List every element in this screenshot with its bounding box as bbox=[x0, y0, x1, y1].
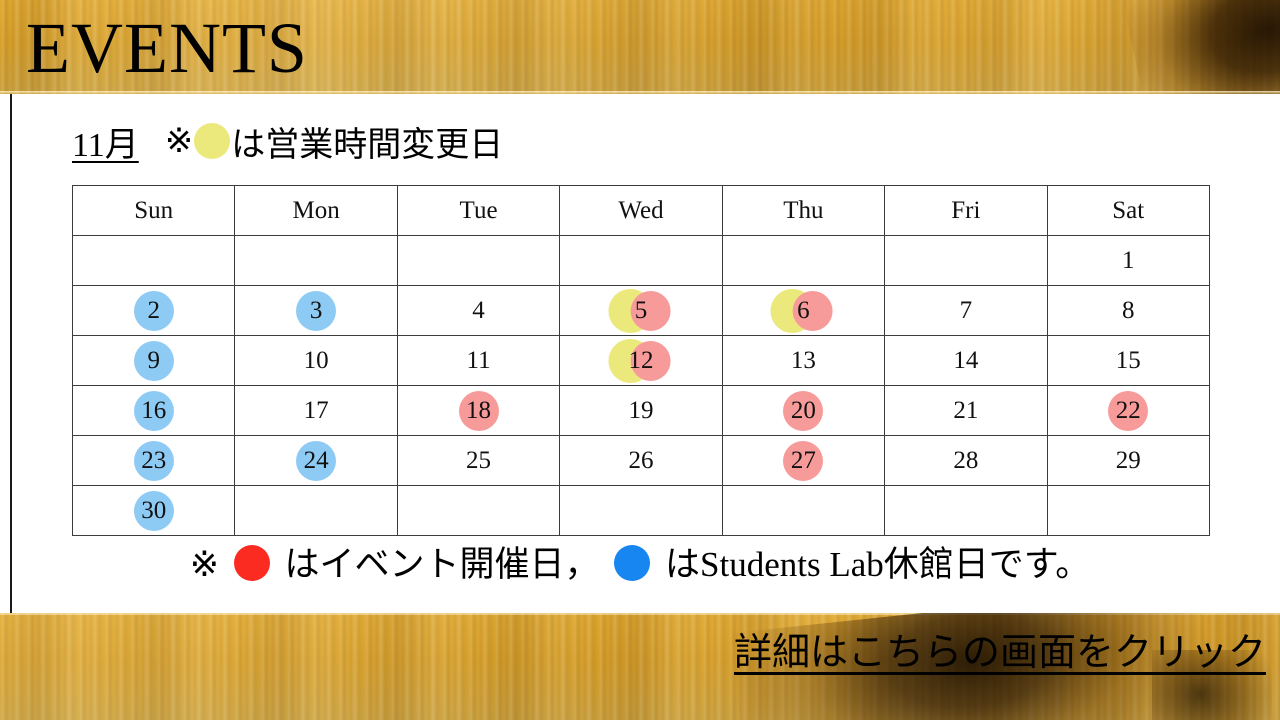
day-cell-content: 22 bbox=[1048, 386, 1209, 435]
calendar-day-cell[interactable]: 12 bbox=[560, 336, 722, 386]
day-cell-content: 16 bbox=[73, 386, 234, 435]
day-cell-content: 11 bbox=[398, 336, 559, 385]
day-cell-content bbox=[885, 236, 1046, 285]
calendar-empty-cell bbox=[885, 486, 1047, 536]
calendar-day-cell[interactable]: 20 bbox=[722, 386, 884, 436]
legend-reference-mark: ※ bbox=[190, 545, 219, 584]
weekday-header-sun: Sun bbox=[73, 186, 235, 236]
day-cell-content bbox=[73, 236, 234, 285]
month-label: 11月 bbox=[72, 117, 139, 166]
day-number: 4 bbox=[472, 298, 485, 323]
calendar-day-cell[interactable]: 7 bbox=[885, 286, 1047, 336]
calendar-empty-cell bbox=[397, 236, 559, 286]
day-number: 26 bbox=[628, 448, 653, 473]
calendar-week-row: 23242526272829 bbox=[73, 436, 1210, 486]
subheading-note-text: は営業時間変更日 bbox=[231, 117, 503, 166]
calendar-day-cell[interactable]: 28 bbox=[885, 436, 1047, 486]
day-cell-content: 3 bbox=[235, 286, 396, 335]
calendar-day-cell[interactable]: 4 bbox=[397, 286, 559, 336]
weekday-header-wed: Wed bbox=[560, 186, 722, 236]
calendar-empty-cell bbox=[73, 236, 235, 286]
day-cell-content bbox=[235, 236, 396, 285]
calendar-day-cell[interactable]: 26 bbox=[560, 436, 722, 486]
day-number: 11 bbox=[467, 348, 491, 373]
calendar-empty-cell bbox=[722, 486, 884, 536]
calendar-week-row: 16171819202122 bbox=[73, 386, 1210, 436]
footer-top-edge bbox=[0, 613, 1280, 615]
calendar-week-row: 9101112131415 bbox=[73, 336, 1210, 386]
calendar-day-cell[interactable]: 29 bbox=[1047, 436, 1209, 486]
red-dot-icon bbox=[234, 545, 270, 581]
day-number: 15 bbox=[1116, 348, 1141, 373]
day-cell-content: 6 bbox=[723, 286, 884, 335]
day-cell-content bbox=[560, 486, 721, 535]
day-cell-content bbox=[723, 486, 884, 535]
day-cell-content: 26 bbox=[560, 436, 721, 485]
day-cell-content: 5 bbox=[560, 286, 721, 335]
day-number: 3 bbox=[310, 298, 323, 323]
day-number: 9 bbox=[147, 348, 160, 373]
calendar-day-cell[interactable]: 3 bbox=[235, 286, 397, 336]
calendar-day-cell[interactable]: 2 bbox=[73, 286, 235, 336]
day-number: 8 bbox=[1122, 298, 1135, 323]
day-cell-content: 9 bbox=[73, 336, 234, 385]
calendar-week-row: 1 bbox=[73, 236, 1210, 286]
day-number: 7 bbox=[960, 298, 973, 323]
calendar-empty-cell bbox=[722, 236, 884, 286]
day-cell-content: 7 bbox=[885, 286, 1046, 335]
calendar-day-cell[interactable]: 1 bbox=[1047, 236, 1209, 286]
day-number: 24 bbox=[304, 448, 329, 473]
day-cell-content bbox=[885, 486, 1046, 535]
day-number: 20 bbox=[791, 398, 816, 423]
day-cell-content bbox=[560, 236, 721, 285]
calendar-day-cell[interactable]: 19 bbox=[560, 386, 722, 436]
day-cell-content: 24 bbox=[235, 436, 396, 485]
weekday-header-tue: Tue bbox=[397, 186, 559, 236]
day-number: 14 bbox=[953, 348, 978, 373]
day-cell-content bbox=[1048, 486, 1209, 535]
calendar-day-cell[interactable]: 5 bbox=[560, 286, 722, 336]
day-cell-content bbox=[398, 486, 559, 535]
day-cell-content: 4 bbox=[398, 286, 559, 335]
calendar-day-cell[interactable]: 11 bbox=[397, 336, 559, 386]
weekday-header-sat: Sat bbox=[1047, 186, 1209, 236]
calendar-empty-cell bbox=[1047, 486, 1209, 536]
day-cell-content: 27 bbox=[723, 436, 884, 485]
day-cell-content: 18 bbox=[398, 386, 559, 435]
calendar-day-cell[interactable]: 21 bbox=[885, 386, 1047, 436]
day-number: 2 bbox=[147, 298, 160, 323]
calendar-table: Sun Mon Tue Wed Thu Fri Sat 123456789101… bbox=[72, 185, 1210, 536]
calendar-empty-cell bbox=[560, 486, 722, 536]
banner-dark-corner bbox=[1114, 0, 1280, 94]
day-number: 13 bbox=[791, 348, 816, 373]
day-cell-content: 13 bbox=[723, 336, 884, 385]
day-cell-content: 2 bbox=[73, 286, 234, 335]
day-number: 18 bbox=[466, 398, 491, 423]
calendar-day-cell[interactable]: 25 bbox=[397, 436, 559, 486]
day-number: 6 bbox=[797, 298, 810, 323]
weekday-header-mon: Mon bbox=[235, 186, 397, 236]
day-number: 27 bbox=[791, 448, 816, 473]
day-cell-content: 12 bbox=[560, 336, 721, 385]
calendar-day-cell[interactable]: 30 bbox=[73, 486, 235, 536]
calendar-day-cell[interactable]: 27 bbox=[722, 436, 884, 486]
calendar-day-cell[interactable]: 23 bbox=[73, 436, 235, 486]
day-cell-content: 10 bbox=[235, 336, 396, 385]
day-number: 29 bbox=[1116, 448, 1141, 473]
day-cell-content bbox=[398, 236, 559, 285]
yellow-dot-icon bbox=[194, 123, 230, 159]
calendar-header-row: Sun Mon Tue Wed Thu Fri Sat bbox=[73, 186, 1210, 236]
day-cell-content: 25 bbox=[398, 436, 559, 485]
day-number: 5 bbox=[635, 298, 648, 323]
calendar-day-cell[interactable]: 15 bbox=[1047, 336, 1209, 386]
calendar-empty-cell bbox=[235, 236, 397, 286]
page-title: EVENTS bbox=[26, 6, 308, 90]
day-cell-content: 30 bbox=[73, 486, 234, 535]
blue-dot-icon bbox=[614, 545, 650, 581]
day-cell-content bbox=[235, 486, 396, 535]
day-number: 23 bbox=[141, 448, 166, 473]
calendar-day-cell[interactable]: 6 bbox=[722, 286, 884, 336]
calendar-day-cell[interactable]: 18 bbox=[397, 386, 559, 436]
slide-root: EVENTS 11月 ※ は営業時間変更日 Sun Mon Tue Wed Th… bbox=[0, 0, 1280, 720]
day-number: 30 bbox=[141, 498, 166, 523]
calendar-day-cell[interactable]: 8 bbox=[1047, 286, 1209, 336]
day-number: 16 bbox=[141, 398, 166, 423]
banner-bottom-edge bbox=[0, 91, 1280, 94]
calendar-day-cell[interactable]: 13 bbox=[722, 336, 884, 386]
calendar-day-cell[interactable]: 24 bbox=[235, 436, 397, 486]
day-cell-content: 28 bbox=[885, 436, 1046, 485]
day-cell-content: 8 bbox=[1048, 286, 1209, 335]
calendar-body: 1234567891011121314151617181920212223242… bbox=[73, 236, 1210, 536]
day-cell-content: 19 bbox=[560, 386, 721, 435]
calendar-week-row: 30 bbox=[73, 486, 1210, 536]
day-number: 12 bbox=[628, 348, 653, 373]
day-cell-content: 29 bbox=[1048, 436, 1209, 485]
day-cell-content: 1 bbox=[1048, 236, 1209, 285]
subheading: 11月 ※ は営業時間変更日 bbox=[72, 118, 503, 164]
calendar-day-cell[interactable]: 14 bbox=[885, 336, 1047, 386]
day-cell-content bbox=[723, 236, 884, 285]
calendar-day-cell[interactable]: 9 bbox=[73, 336, 235, 386]
details-click-link[interactable]: 詳細はこちらの画面をクリック bbox=[734, 621, 1266, 676]
calendar-day-cell[interactable]: 22 bbox=[1047, 386, 1209, 436]
calendar-day-cell[interactable]: 17 bbox=[235, 386, 397, 436]
calendar-day-cell[interactable]: 10 bbox=[235, 336, 397, 386]
day-number: 1 bbox=[1122, 248, 1135, 273]
day-cell-content: 23 bbox=[73, 436, 234, 485]
day-number: 19 bbox=[628, 398, 653, 423]
day-number: 17 bbox=[304, 398, 329, 423]
legend-event-text: はイベント開催日， bbox=[285, 545, 600, 584]
day-number: 21 bbox=[953, 398, 978, 423]
day-number: 28 bbox=[953, 448, 978, 473]
day-cell-content: 14 bbox=[885, 336, 1046, 385]
calendar-empty-cell bbox=[397, 486, 559, 536]
legend-closed-text: はStudents Lab休館日です。 bbox=[665, 545, 1090, 584]
reference-mark-symbol: ※ bbox=[165, 121, 194, 161]
day-number: 10 bbox=[304, 348, 329, 373]
day-cell-content: 21 bbox=[885, 386, 1046, 435]
day-cell-content: 20 bbox=[723, 386, 884, 435]
calendar-empty-cell bbox=[560, 236, 722, 286]
calendar-week-row: 2345678 bbox=[73, 286, 1210, 336]
calendar-empty-cell bbox=[235, 486, 397, 536]
day-number: 22 bbox=[1116, 398, 1141, 423]
day-number: 25 bbox=[466, 448, 491, 473]
legend: ※ はイベント開催日， はStudents Lab休館日です。 bbox=[0, 536, 1280, 587]
weekday-header-thu: Thu bbox=[722, 186, 884, 236]
day-cell-content: 15 bbox=[1048, 336, 1209, 385]
calendar-day-cell[interactable]: 16 bbox=[73, 386, 235, 436]
day-cell-content: 17 bbox=[235, 386, 396, 435]
weekday-header-fri: Fri bbox=[885, 186, 1047, 236]
calendar-empty-cell bbox=[885, 236, 1047, 286]
